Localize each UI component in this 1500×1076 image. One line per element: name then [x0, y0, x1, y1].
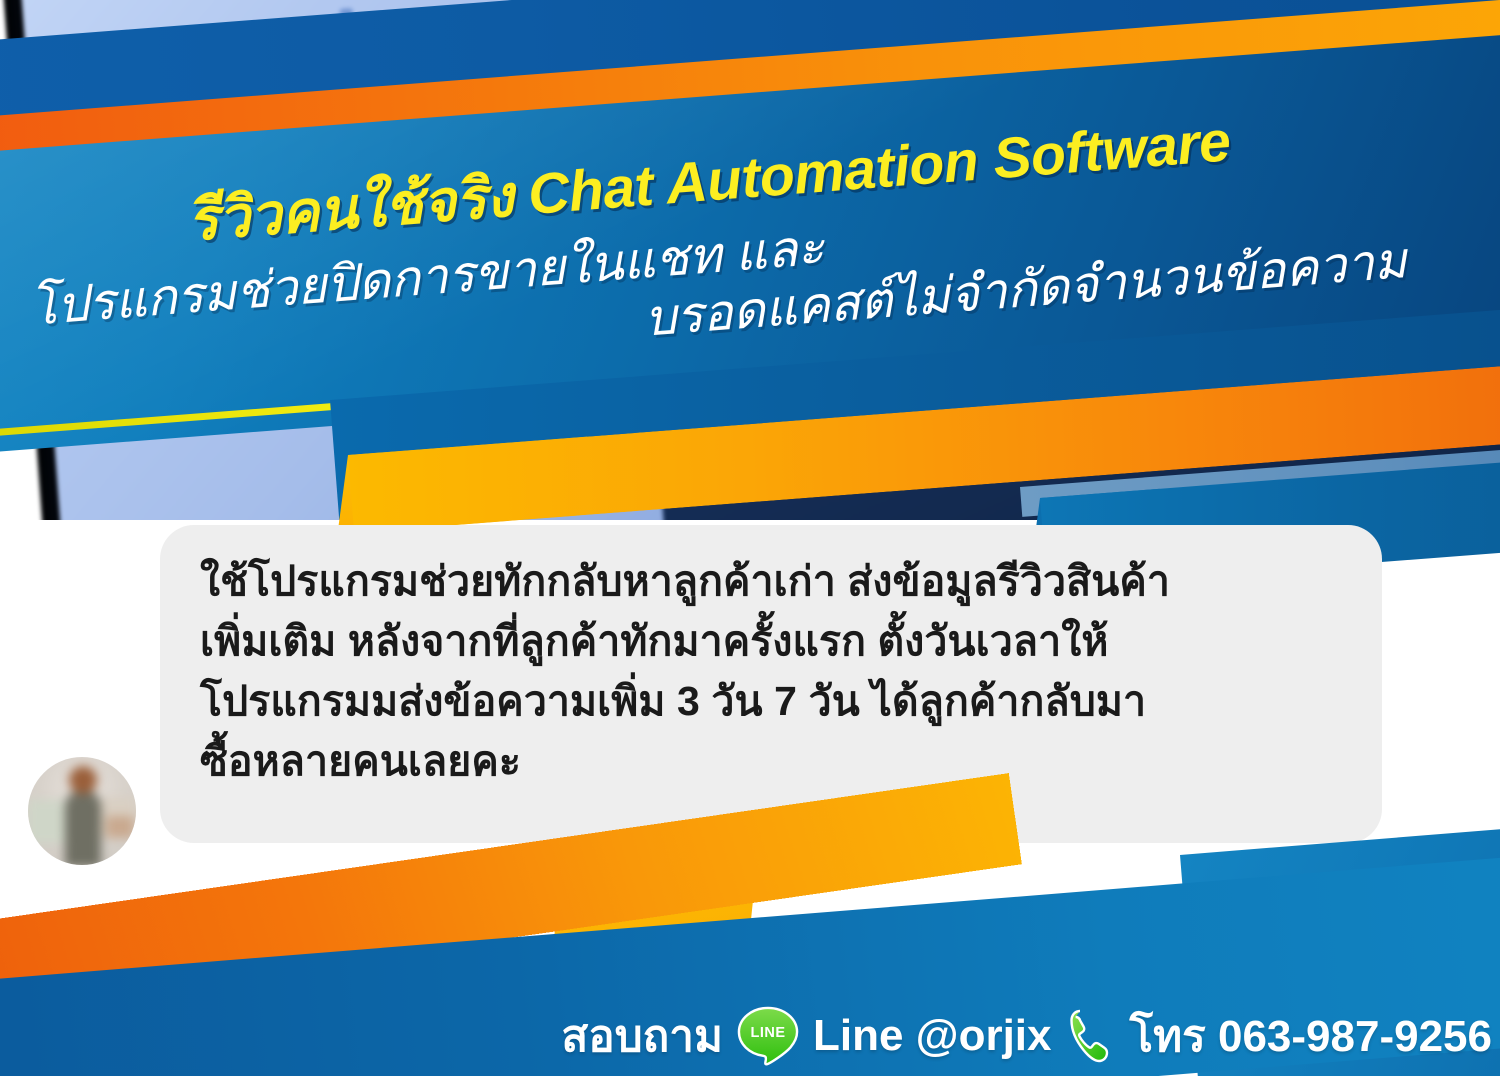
- avatar: [28, 757, 136, 865]
- contact-ask-label: สอบถาม: [561, 1001, 723, 1071]
- svg-text:LINE: LINE: [750, 1024, 785, 1040]
- line-id-label[interactable]: Line @orjix: [813, 1011, 1052, 1061]
- poster-canvas: รีวิวคนใช้จริง Chat Automation Software …: [0, 0, 1500, 1076]
- phone-label[interactable]: โทร 063-987-9256: [1129, 1001, 1492, 1071]
- contact-bar: สอบถาม LINE Line @orjix โทร 063-987-9256: [0, 995, 1500, 1076]
- phone-icon[interactable]: [1065, 1008, 1115, 1064]
- line-icon[interactable]: LINE: [737, 1005, 799, 1067]
- review-bubble: ใช้โปรแกรมช่วยทักกลับหาลูกค้าเก่า ส่งข้อ…: [160, 525, 1382, 843]
- review-text: ใช้โปรแกรมช่วยทักกลับหาลูกค้าเก่า ส่งข้อ…: [200, 551, 1356, 791]
